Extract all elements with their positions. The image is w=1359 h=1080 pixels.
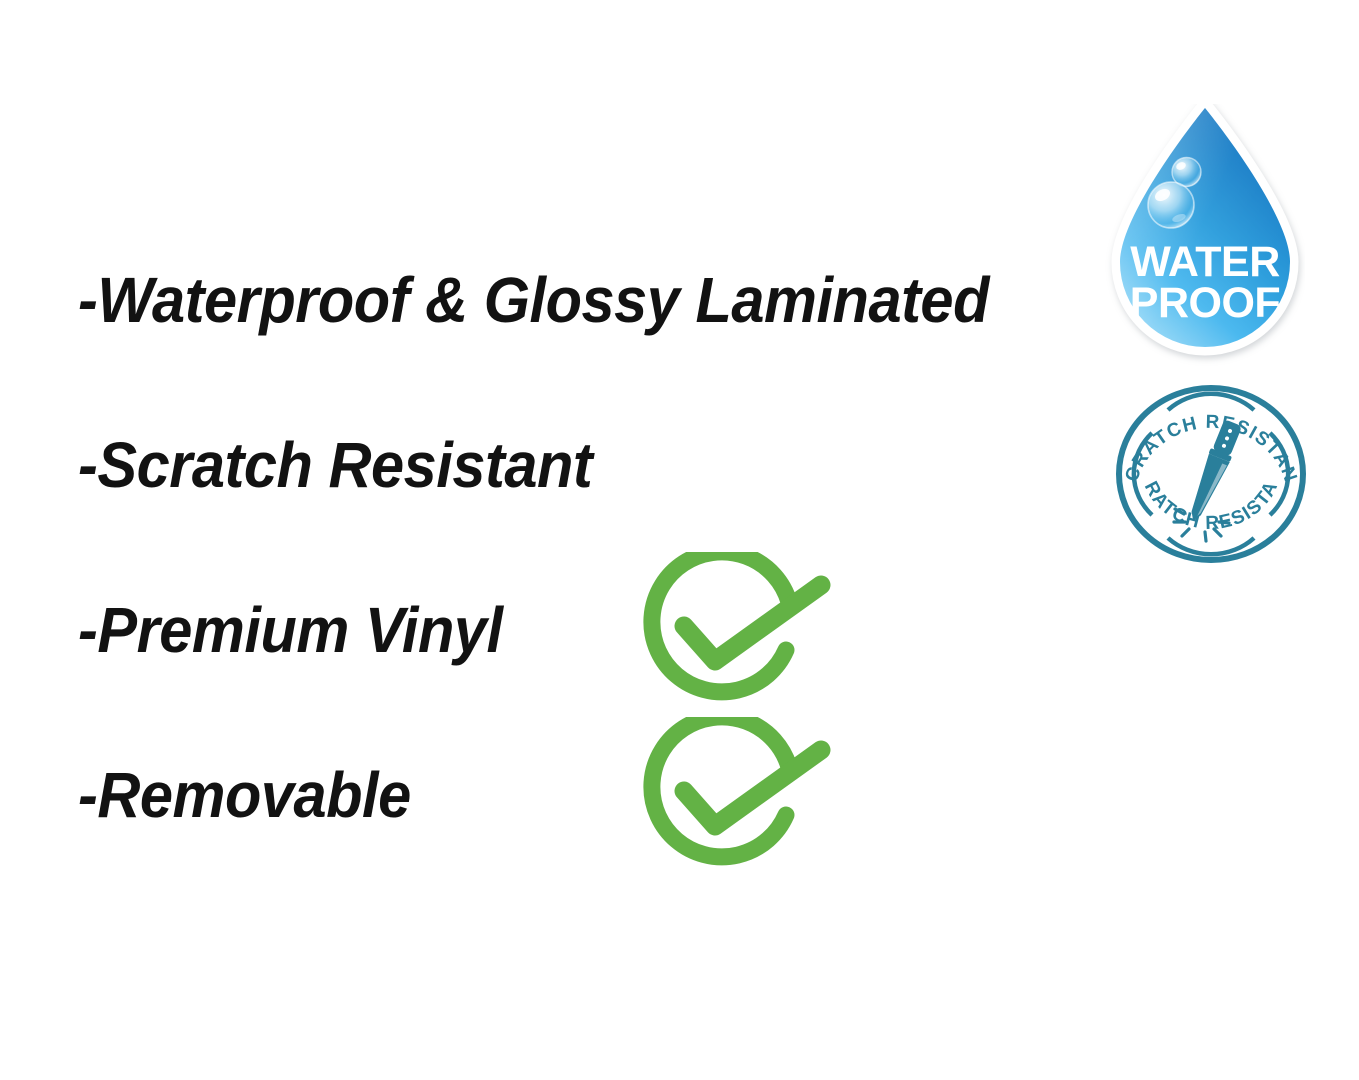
feature-list-graphic: -Waterproof & Glossy Laminated -Scratch … xyxy=(0,0,1359,1080)
check-mark-removable xyxy=(638,717,838,877)
feature-item-removable: -Removable xyxy=(78,763,411,827)
check-tick xyxy=(684,750,821,826)
feature-item-waterproof-glossy-laminated: -Waterproof & Glossy Laminated xyxy=(78,268,989,332)
scratch-resistant-badge: SCRATCH RESISTANT SCRATCH RESISTANT xyxy=(1113,382,1309,566)
feature-item-premium-vinyl: -Premium Vinyl xyxy=(78,598,503,662)
feature-item-scratch-resistant: -Scratch Resistant xyxy=(78,433,592,497)
check-mark-premium-vinyl xyxy=(638,552,838,712)
feature-list: -Waterproof & Glossy Laminated -Scratch … xyxy=(0,0,1100,1080)
waterproof-line2: PROOF xyxy=(1130,279,1280,327)
check-tick xyxy=(684,585,821,661)
bubble-icon-large xyxy=(1148,182,1194,228)
waterproof-badge: WATER PROOF xyxy=(1105,104,1305,366)
